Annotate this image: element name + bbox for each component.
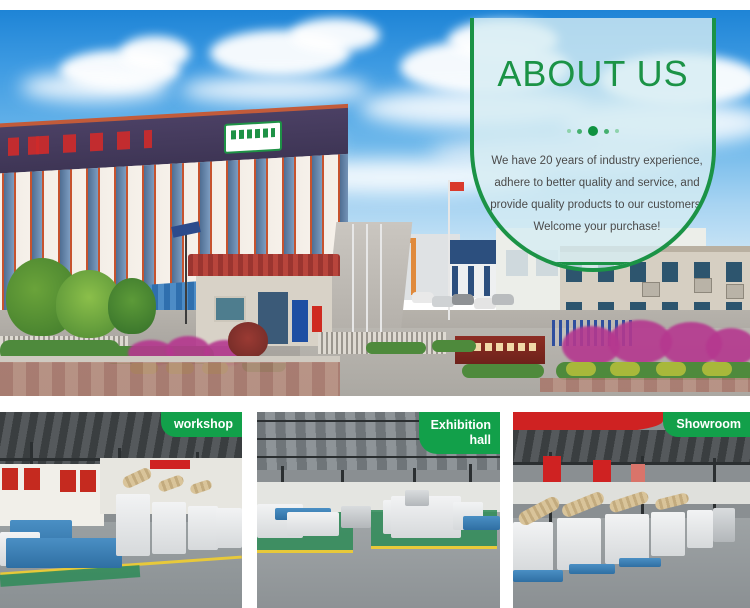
- thumbnail-showroom[interactable]: Showroom: [513, 412, 750, 608]
- description-line: We have 20 years of industry experience,: [482, 150, 712, 172]
- description-line: provide quality products to our customer…: [482, 194, 712, 216]
- divider-dot: [567, 129, 571, 133]
- description-line: adhere to better quality and service, an…: [482, 172, 712, 194]
- thumbnail-tag-exhibition-hall: Exhibition hall: [419, 412, 500, 454]
- about-us-badge: ABOUT US We have 20 years of industry ex…: [470, 18, 716, 272]
- tag-label: workshop: [174, 417, 233, 431]
- tag-label-line2: hall: [431, 433, 491, 448]
- thumbnail-tag-workshop: workshop: [161, 412, 242, 437]
- divider-dot: [615, 129, 619, 133]
- divider-dot: [604, 129, 609, 134]
- hero-section: ABOUT US We have 20 years of industry ex…: [0, 0, 750, 396]
- facility-thumbnail-strip: workshop: [0, 412, 750, 608]
- about-us-description: We have 20 years of industry experience,…: [482, 150, 712, 238]
- badge-underline: [555, 262, 631, 265]
- thumbnail-workshop[interactable]: workshop: [0, 412, 242, 608]
- thumbnail-exhibition-hall[interactable]: Exhibition hall: [257, 412, 500, 608]
- divider-dot-active: [588, 126, 598, 136]
- about-us-page: ABOUT US We have 20 years of industry ex…: [0, 0, 750, 608]
- divider-dot: [577, 129, 582, 134]
- tag-label: Showroom: [676, 417, 741, 431]
- thumbnail-tag-showroom: Showroom: [663, 412, 750, 437]
- company-logo-sign: [224, 121, 282, 154]
- dot-divider: [474, 126, 712, 136]
- tag-label-line1: Exhibition: [431, 418, 491, 433]
- description-line: Welcome your purchase!: [482, 216, 712, 238]
- page-title: ABOUT US: [474, 56, 712, 92]
